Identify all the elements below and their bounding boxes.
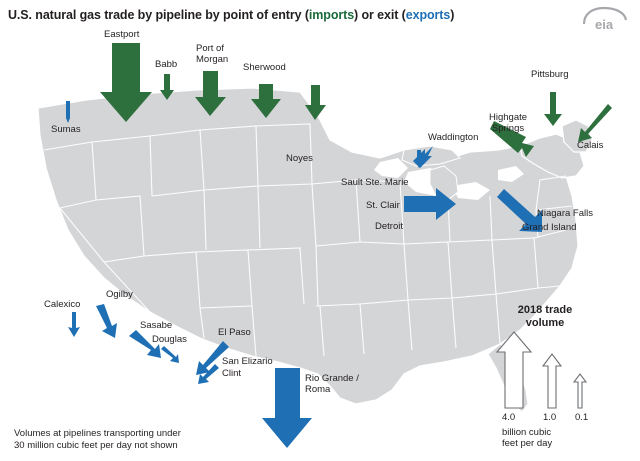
- legend-title-line1: 2018 trade: [518, 304, 572, 316]
- label-waddington: Waddington: [428, 132, 478, 143]
- legend-title: 2018 trade volume: [495, 304, 595, 330]
- infographic-canvas: U.S. natural gas trade by pipeline by po…: [0, 0, 640, 461]
- arrow-pittsburg: [544, 92, 562, 126]
- label-port-of-morgan: Port of Morgan: [196, 44, 228, 65]
- label-ogilby: Ogilby: [106, 289, 133, 300]
- label-douglas: Douglas: [152, 334, 187, 345]
- footnote: Volumes at pipelines transporting under …: [14, 428, 181, 451]
- arrow-calexico: [68, 312, 80, 337]
- label-noyes: Noyes: [286, 153, 313, 164]
- legend-value-01: 0.1: [575, 412, 588, 423]
- label-el-paso: El Paso: [218, 327, 251, 338]
- label-pittsburg: Pittsburg: [531, 69, 569, 80]
- legend-unit-line2: feet per day: [502, 438, 552, 449]
- legend-title-line2: volume: [526, 317, 565, 329]
- label-highgate-springs: Highgate Springs: [489, 113, 527, 134]
- label-st-clair: St. Clair: [366, 200, 400, 211]
- label-eastport: Eastport: [104, 29, 139, 40]
- label-clint: Clint: [222, 368, 241, 379]
- label-rio-grande-roma: Rio Grande / Roma: [305, 374, 359, 395]
- legend-value-4: 4.0: [502, 412, 515, 423]
- label-sault-ste-marie: Sault Ste. Marie: [341, 177, 409, 188]
- label-sasabe: Sasabe: [140, 320, 172, 331]
- legend-unit-line1: billion cubic: [502, 427, 551, 438]
- label-san-elizario: San Elizario: [222, 356, 273, 367]
- label-sumas: Sumas: [51, 124, 81, 135]
- label-detroit: Detroit: [375, 221, 403, 232]
- footnote-line2: 30 million cubic feet per day not shown: [14, 440, 178, 451]
- label-calais: Calais: [577, 140, 603, 151]
- legend-unit: billion cubic feet per day: [502, 427, 552, 449]
- label-calexico: Calexico: [44, 299, 80, 310]
- arrow-ogilby: [96, 304, 117, 338]
- legend-arrows: [497, 332, 586, 408]
- label-sherwood: Sherwood: [243, 62, 286, 73]
- footnote-line1: Volumes at pipelines transporting under: [14, 428, 181, 439]
- label-babb: Babb: [155, 59, 177, 70]
- label-niagara-falls: Niagara Falls: [537, 208, 593, 219]
- arrow-douglas: [161, 346, 179, 363]
- legend-value-1: 1.0: [543, 412, 556, 423]
- label-grand-island: Grand Island: [522, 222, 576, 233]
